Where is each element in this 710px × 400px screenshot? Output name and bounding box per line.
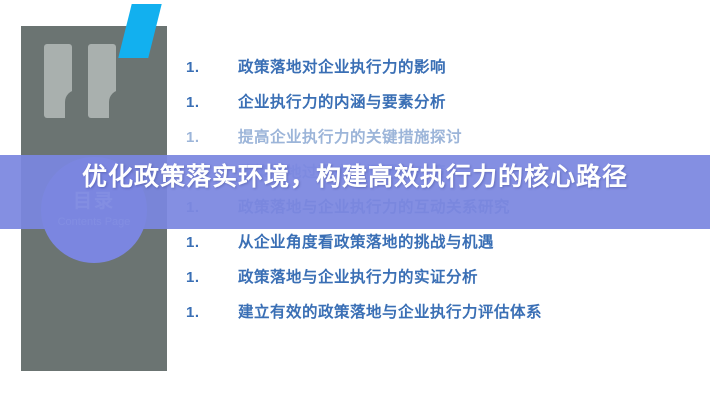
list-item-label: 建立有效的政策落地与企业执行力评估体系: [238, 300, 542, 322]
list-item-label: 企业执行力的内涵与要素分析: [238, 90, 446, 112]
list-item-number: 1.: [186, 304, 238, 321]
list-item[interactable]: 1. 政策落地与企业执行力的实证分析: [186, 265, 686, 300]
list-item-label: 政策落地对企业执行力的影响: [238, 55, 446, 77]
slide-canvas: 目录 Contents Page 1. 政策落地对企业执行力的影响 1. 企业执…: [0, 0, 710, 400]
headline-overlay-text: 优化政策落实环境，构建高效执行力的核心路径: [0, 160, 710, 194]
list-item[interactable]: 1. 建立有效的政策落地与企业执行力评估体系: [186, 300, 686, 335]
list-item-number: 1.: [186, 269, 238, 286]
list-item[interactable]: 1. 从企业角度看政策落地的挑战与机遇: [186, 230, 686, 265]
list-item[interactable]: 1. 企业执行力的内涵与要素分析: [186, 90, 686, 125]
list-item-number: 1.: [186, 94, 238, 111]
list-item-number: 1.: [186, 129, 238, 146]
list-item-label: 提高企业执行力的关键措施探讨: [238, 125, 462, 147]
list-item-label: 政策落地与企业执行力的实证分析: [238, 265, 478, 287]
list-item-number: 1.: [186, 234, 238, 251]
list-item-number: 1.: [186, 59, 238, 76]
list-item[interactable]: 1. 政策落地对企业执行力的影响: [186, 55, 686, 90]
list-item-label: 从企业角度看政策落地的挑战与机遇: [238, 230, 494, 252]
